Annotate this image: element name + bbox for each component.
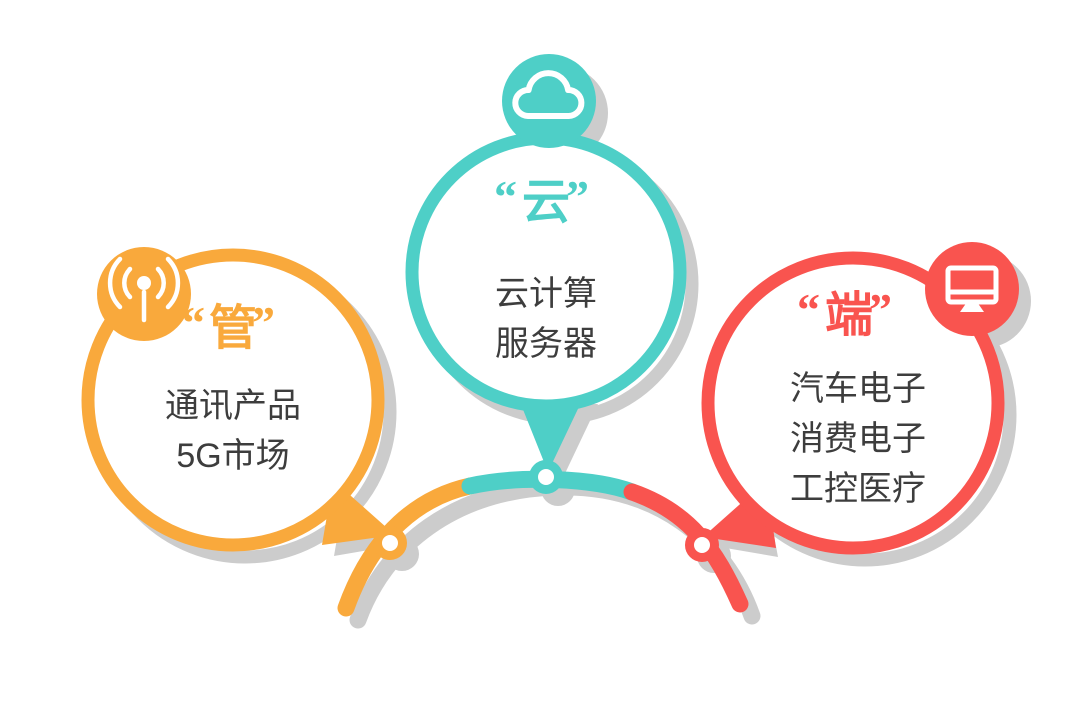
icon-badge-guan[interactable]: [97, 247, 191, 341]
infographic-canvas: “ 管 ” 通讯产品 5G市场 “ 云 ” 云计算: [0, 0, 1080, 716]
node-center[interactable]: [534, 465, 559, 490]
bubble-line-duan-3: 工控医疗: [790, 470, 926, 508]
node-right[interactable]: [690, 533, 715, 558]
headline-char-yun: 云: [522, 174, 570, 230]
quote-close-duan: ”: [869, 284, 892, 335]
quote-close-guan: ”: [252, 297, 275, 348]
bubble-line-duan-2: 消费电子: [790, 420, 926, 458]
headline-char-guan: 管: [209, 300, 257, 356]
bubble-line-guan-2: 5G市场: [176, 437, 289, 475]
icon-badge-yun[interactable]: [502, 54, 596, 148]
icon-badge-duan[interactable]: [925, 242, 1019, 336]
quote-open-guan: “: [182, 297, 205, 348]
quote-close-yun: ”: [566, 171, 589, 222]
bubble-line-duan-1: 汽车电子: [790, 370, 926, 408]
node-left[interactable]: [378, 531, 403, 556]
bubble-guan[interactable]: “ 管 ” 通讯产品 5G市场: [88, 247, 395, 545]
bubble-yun[interactable]: “ 云 ” 云计算 服务器: [412, 54, 680, 472]
bubble-line-yun-2: 服务器: [495, 325, 597, 363]
quote-open-duan: “: [797, 284, 820, 335]
headline-yun: “ 云 ”: [494, 171, 589, 230]
bubble-duan[interactable]: “ 端 ” 汽车电子 消费电子 工控医疗: [703, 242, 1019, 548]
three-bubble-diagram: “ 管 ” 通讯产品 5G市场 “ 云 ” 云计算: [0, 0, 1080, 716]
quote-open-yun: “: [494, 171, 517, 222]
headline-guan: “ 管 ”: [182, 297, 275, 356]
headline-char-duan: 端: [825, 287, 873, 343]
bubble-line-yun-1: 云计算: [495, 275, 597, 313]
headline-duan: “ 端 ”: [797, 284, 892, 343]
icon-badge-circle-duan[interactable]: [925, 242, 1019, 336]
bubble-line-guan-1: 通讯产品: [165, 387, 301, 425]
